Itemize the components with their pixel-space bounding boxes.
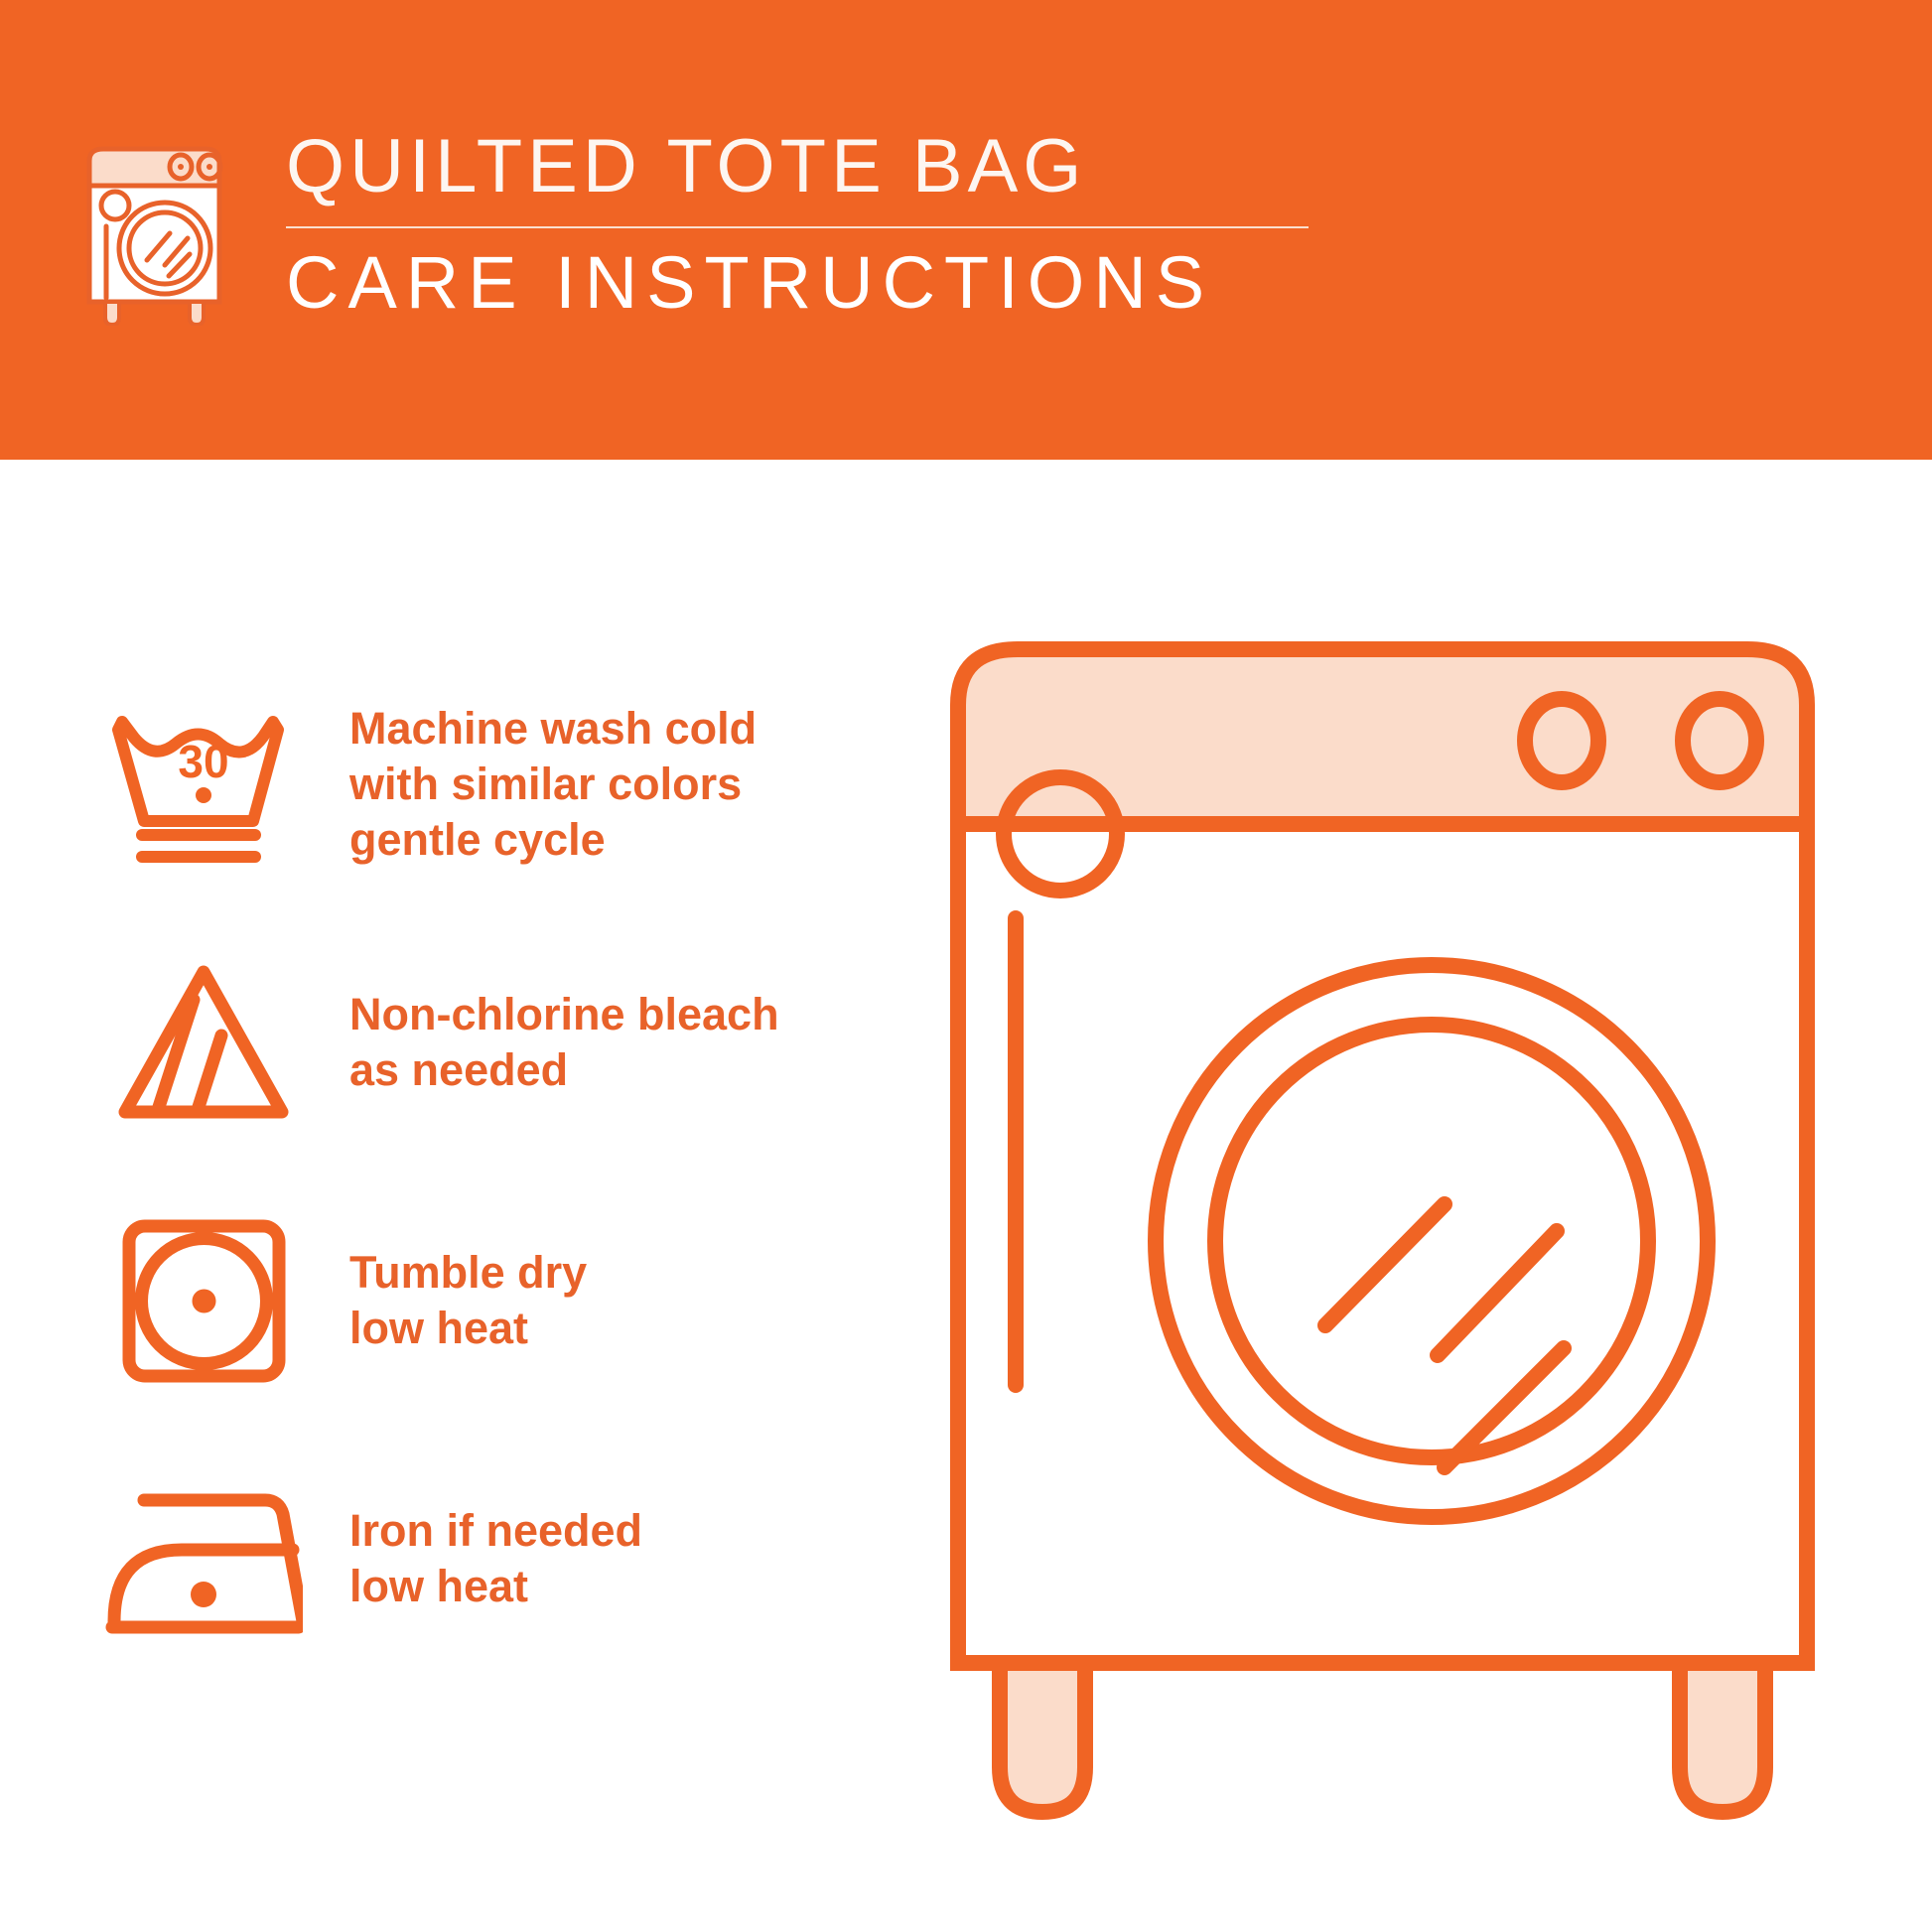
instruction-list: 30 Machine wash cold with similar colors… xyxy=(79,655,953,1688)
page-subtitle: CARE INSTRUCTIONS xyxy=(286,246,1309,320)
instruction-line: as needed xyxy=(349,1042,953,1098)
instruction-row-iron: Iron if needed low heat xyxy=(79,1430,953,1688)
instruction-row-wash: 30 Machine wash cold with similar colors… xyxy=(79,655,953,913)
knob-right xyxy=(1683,699,1756,782)
instruction-line: Machine wash cold xyxy=(349,701,953,757)
instruction-line: low heat xyxy=(349,1559,953,1614)
wash-temperature-label: 30 xyxy=(178,736,228,787)
instruction-line: Iron if needed xyxy=(349,1503,953,1559)
header-band: QUILTED TOTE BAG CARE INSTRUCTIONS xyxy=(0,0,1932,460)
instruction-line: low heat xyxy=(349,1301,953,1356)
instruction-line: gentle cycle xyxy=(349,812,953,868)
washing-machine-illustration xyxy=(943,635,1876,1847)
instruction-text-bleach: Non-chlorine bleach as needed xyxy=(328,987,953,1099)
care-instructions-page: QUILTED TOTE BAG CARE INSTRUCTIONS 30 Ma… xyxy=(0,0,1932,1932)
instruction-row-tumble-dry: Tumble dry low heat xyxy=(79,1172,953,1430)
page-title: QUILTED TOTE BAG xyxy=(286,129,1309,205)
non-chlorine-bleach-triangle-icon xyxy=(79,958,328,1127)
knob-left xyxy=(1525,699,1598,782)
leg-right xyxy=(1680,1663,1765,1812)
title-divider xyxy=(286,226,1309,228)
machine-body xyxy=(958,774,1807,1663)
instruction-line: Non-chlorine bleach xyxy=(349,987,953,1042)
instruction-text-tumble-dry: Tumble dry low heat xyxy=(328,1245,953,1357)
instruction-text-iron: Iron if needed low heat xyxy=(328,1503,953,1615)
iron-low-heat-icon xyxy=(79,1482,328,1636)
wash-basin-30-gentle-icon: 30 xyxy=(79,700,328,869)
instruction-text-wash: Machine wash cold with similar colors ge… xyxy=(328,701,953,869)
instruction-line: Tumble dry xyxy=(349,1245,953,1301)
header-text-block: QUILTED TOTE BAG CARE INSTRUCTIONS xyxy=(286,129,1309,320)
instruction-line: with similar colors xyxy=(349,757,953,812)
washing-machine-icon xyxy=(77,139,231,326)
leg-left xyxy=(1000,1663,1085,1812)
instruction-row-bleach: Non-chlorine bleach as needed xyxy=(79,913,953,1172)
tumble-dry-low-heat-icon xyxy=(79,1214,328,1388)
